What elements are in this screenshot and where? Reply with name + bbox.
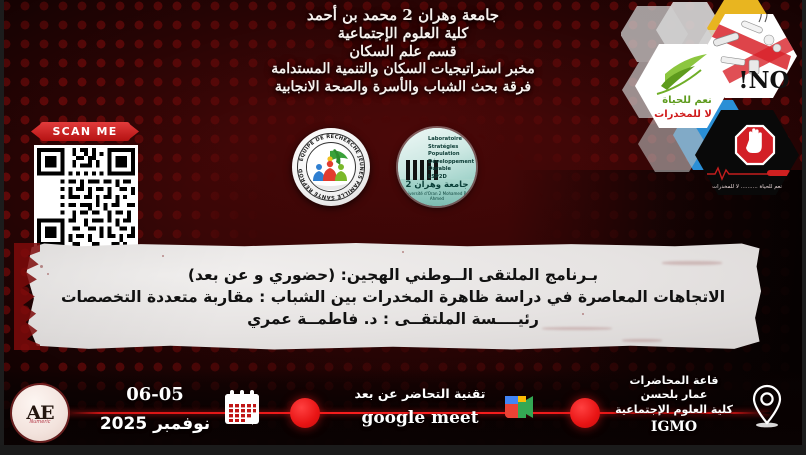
header-line-research-team: فرقة بحث الشباب والأسرة والصحة الانجابية (0, 79, 806, 97)
venue-faculty: كلية العلوم الإجتماعية (606, 403, 742, 417)
meeting-platform-block: تقنية التحاضر عن بعد google meet (340, 386, 500, 428)
header-line-department: قسم علم السكان (0, 43, 806, 61)
qr-code[interactable] (34, 145, 138, 249)
location-pin-icon (747, 383, 787, 433)
conference-poster: جامعة وهران 2 محمد بن أحمد كلية العلوم ا… (0, 0, 806, 455)
team-people-icon (306, 143, 355, 192)
research-team-logo: EQUIPE DE RECHERCHE JEUNES FAMILLE SANTE… (292, 128, 370, 206)
poster-header: جامعة وهران 2 محمد بن أحمد كلية العلوم ا… (0, 6, 806, 96)
calendar-icon-svg (222, 387, 262, 427)
meeting-platform-name: google meet (340, 408, 500, 428)
calendar-icon (222, 387, 262, 431)
google-meet-icon-svg (501, 390, 535, 424)
venue-hall-name: عمار بلحسن (606, 388, 742, 402)
google-meet-icon (501, 390, 535, 428)
university-logo-lines: Laboratoire Stratégies Population Dévelo… (428, 136, 472, 181)
stop-caption-text: نعم للحياة .......... لا للمخدرات (712, 184, 782, 190)
meeting-platform-label: تقنية التحاضر عن بعد (340, 386, 500, 401)
scan-me-badge: SCAN ME (40, 122, 130, 141)
event-date-month-year: نوفمبر 2025 (96, 414, 214, 434)
university-lab-logo: Laboratoire Stratégies Population Dévelo… (398, 128, 476, 206)
banner-program-line: بـرنامج الملتقى الــوطني الهجين: (حضوري … (42, 264, 744, 286)
footer-red-dot-2 (570, 398, 600, 428)
footer-red-dot-1 (290, 398, 320, 428)
header-line-laboratory: مخبر استراتيجيات السكان والتنمية المستدا… (0, 61, 806, 79)
lab-line-cadre: Laboratoire (428, 136, 472, 144)
header-line-faculty: كلية العلوم الإجتماعية (0, 25, 806, 43)
team-logo-inner (306, 142, 356, 192)
frame-right-edge (802, 0, 806, 455)
lab-line-population: Population (428, 151, 472, 159)
scan-me-block[interactable]: SCAN ME (32, 122, 138, 249)
banner-theme-line: الاتجاهات المعاصرة في دراسة ظاهرة المخدر… (42, 286, 744, 308)
location-pin-icon-svg (747, 383, 787, 429)
qr-code-icon (37, 148, 135, 246)
green-slogan-bottom-text: لا للمخدرات (654, 109, 712, 120)
university-logo-arabic: جامعة وهران 2 (398, 180, 476, 190)
green-slogan-top-text: نعم للحياة (662, 95, 712, 106)
header-line-university: جامعة وهران 2 محمد بن أحمد (0, 6, 806, 25)
university-logo-sub: Université d'Oran 2 Mohamed Ben Ahmed (398, 191, 476, 201)
event-date-days: 06-05 (96, 384, 214, 405)
brand-logo-subtitle: Numeric (12, 419, 68, 425)
venue-block: قاعة المحاضرات عمار بلحسن كلية العلوم ال… (606, 374, 742, 436)
banner-chair-line: رئيــــسة الملتقــى : د. فاطمــة عمري (42, 308, 744, 330)
venue-campus-code: IGMO (606, 418, 742, 436)
venue-hall: قاعة المحاضرات (606, 374, 742, 388)
frame-bottom-edge (0, 445, 806, 455)
frame-left-edge (0, 0, 4, 455)
lab-line-strategies: Stratégies (428, 144, 472, 152)
main-banner-text: بـرنامج الملتقى الــوطني الهجين: (حضوري … (22, 243, 764, 350)
event-date-block: 06-05 نوفمبر 2025 (96, 384, 214, 434)
lab-line-developpement: Développement (428, 159, 472, 167)
partner-logos: Laboratoire Stratégies Population Dévelo… (292, 128, 476, 206)
lab-line-durable: Durable (428, 166, 472, 174)
organizer-brand-logo: AE Numeric (12, 385, 68, 441)
